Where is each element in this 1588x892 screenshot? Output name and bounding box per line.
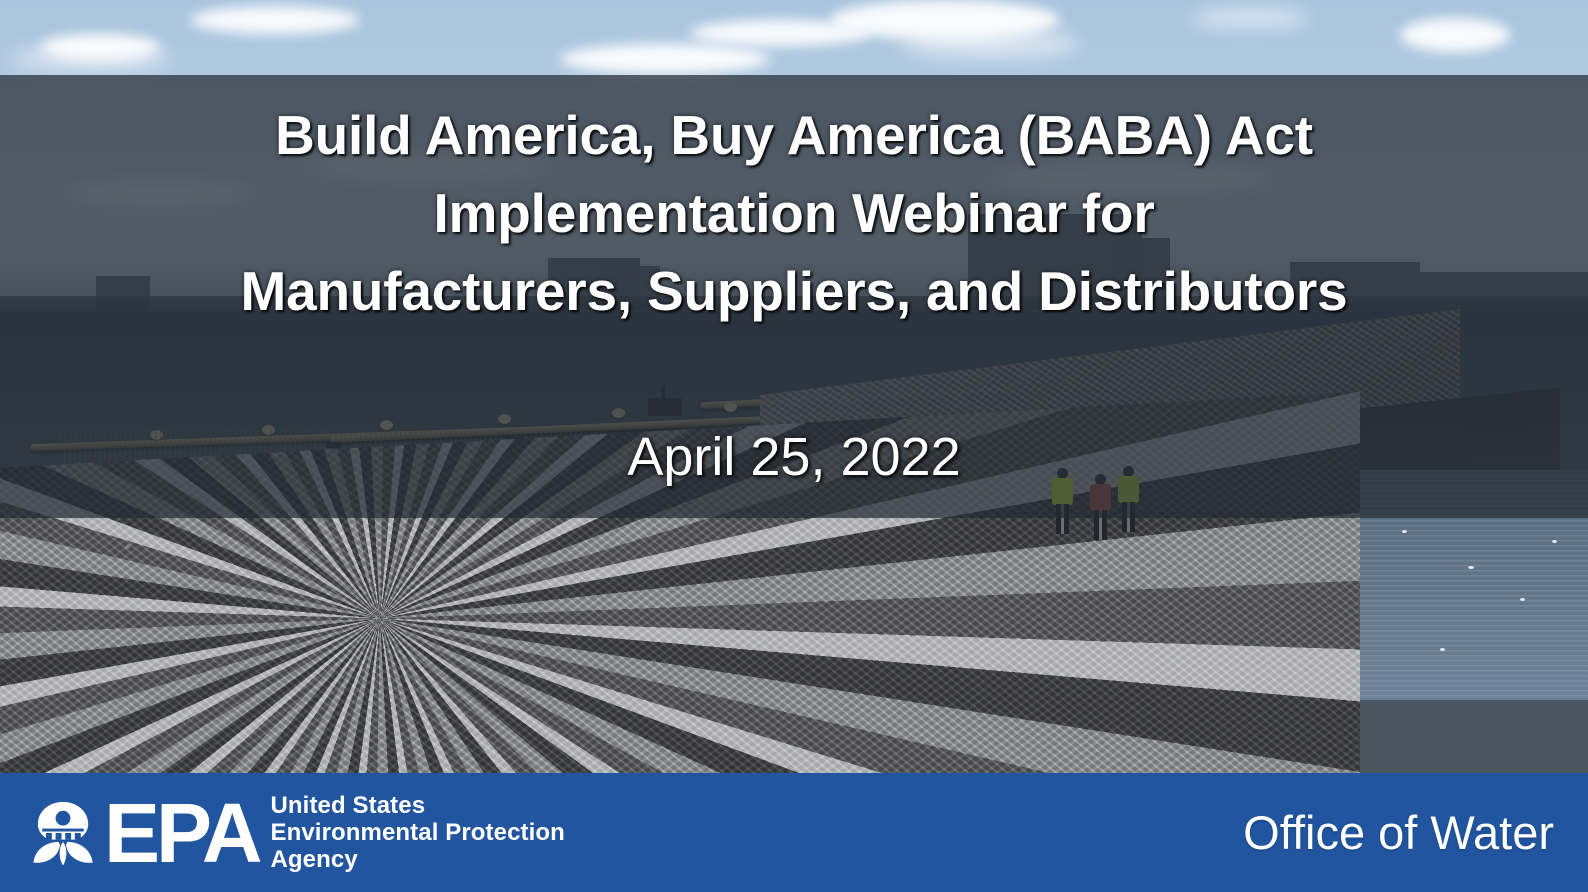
slide-title: Build America, Buy America (BABA) Act Im… xyxy=(0,96,1588,330)
water-sparkle xyxy=(1402,530,1407,533)
cloud xyxy=(1190,8,1310,28)
epa-seal-icon xyxy=(26,796,100,870)
office-label: Office of Water xyxy=(1243,807,1588,859)
title-slide: Build America, Buy America (BABA) Act Im… xyxy=(0,0,1588,892)
water-sparkle xyxy=(1552,540,1557,543)
epa-wordmark: EPA xyxy=(104,796,258,870)
title-line-2: Implementation Webinar for xyxy=(0,174,1588,252)
cloud xyxy=(560,44,770,74)
agency-line-2: Environmental Protection xyxy=(270,819,564,846)
cloud xyxy=(1400,18,1510,52)
water-sparkle xyxy=(1440,648,1445,651)
cloud xyxy=(10,48,170,70)
title-line-3: Manufacturers, Suppliers, and Distributo… xyxy=(0,252,1588,330)
epa-agency-name: United States Environmental Protection A… xyxy=(270,792,564,873)
agency-line-1: United States xyxy=(270,792,564,819)
title-line-1: Build America, Buy America (BABA) Act xyxy=(0,96,1588,174)
water-sparkle xyxy=(1468,566,1474,569)
cloud xyxy=(190,6,360,34)
water-sparkle xyxy=(1520,598,1525,601)
agency-line-3: Agency xyxy=(270,846,564,873)
cloud xyxy=(900,30,1080,58)
epa-branding: EPA United States Environmental Protecti… xyxy=(0,792,565,873)
slide-date: April 25, 2022 xyxy=(0,425,1588,489)
footer-bar: EPA United States Environmental Protecti… xyxy=(0,773,1588,892)
